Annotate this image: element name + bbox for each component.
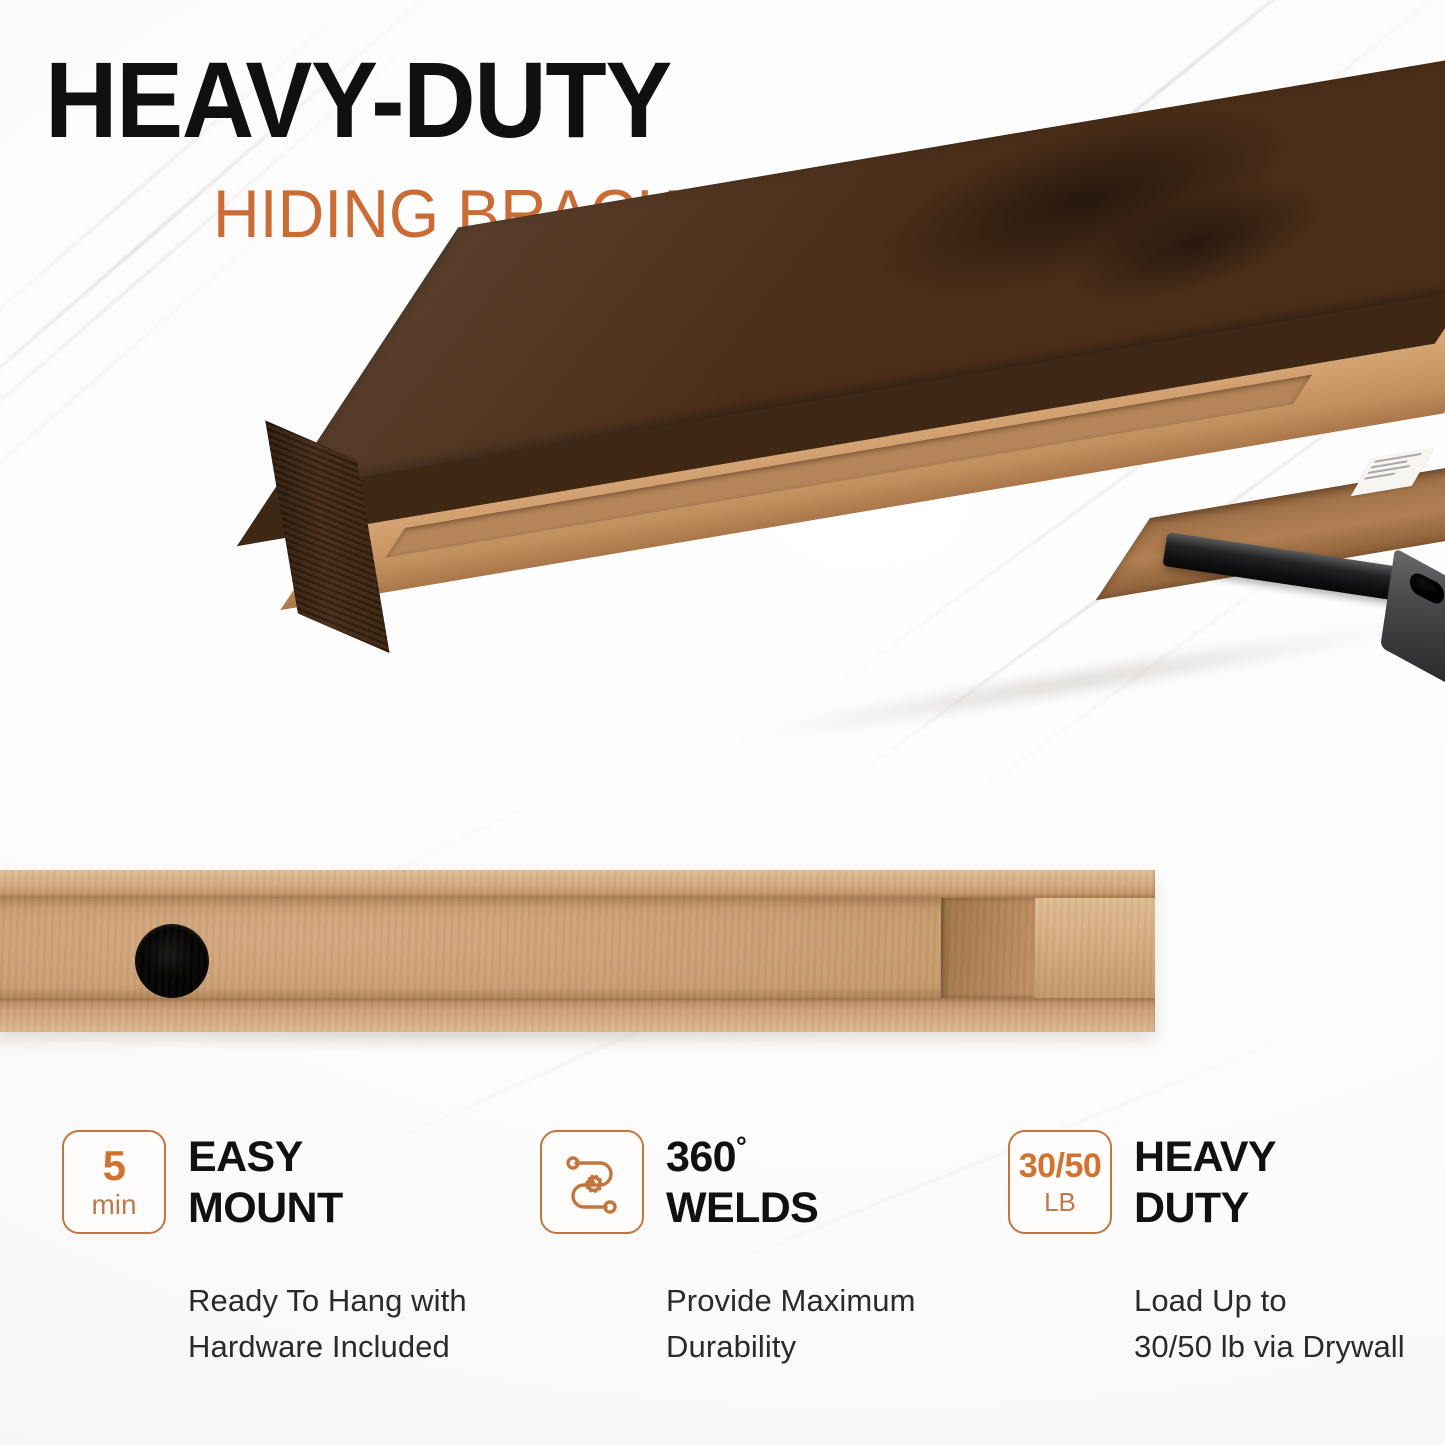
feature-description: Load Up to 30/50 lb via Drywall — [1134, 1278, 1445, 1370]
feature-title: 360° WELDS — [666, 1130, 818, 1234]
feature-easy-mount: 5 min EASY MOUNT Ready To Hang with Hard… — [62, 1130, 502, 1370]
feature-title: EASY MOUNT — [188, 1130, 343, 1234]
weight-capacity-badge-icon: 30/50 LB — [1008, 1130, 1112, 1234]
cross-section-top-wall — [0, 870, 1155, 898]
cross-section-mounting-hole — [135, 924, 209, 998]
badge-value: 5 — [103, 1145, 126, 1187]
feature-title-rest: WELDS — [666, 1184, 818, 1232]
feature-360-welds: 360° WELDS Provide Maximum Durability — [540, 1130, 980, 1370]
page-title: HEAVY-DUTY — [45, 44, 671, 156]
feature-title-number: 360 — [666, 1133, 736, 1181]
hero-image-angled-shelf — [0, 250, 1445, 780]
feature-list: 5 min EASY MOUNT Ready To Hang with Hard… — [0, 1130, 1445, 1430]
feature-heavy-duty: 30/50 LB HEAVY DUTY Load Up to 30/50 lb … — [1008, 1130, 1445, 1370]
hero-image-cross-section — [0, 870, 1445, 1045]
feature-heading-row: 30/50 LB HEAVY DUTY — [1008, 1130, 1445, 1234]
badge-value: 30/50 — [1019, 1148, 1102, 1184]
shelf-assembly — [285, 260, 1445, 760]
product-infographic: HEAVY-DUTY HIDING BRACKET/ACCESSORY — [0, 0, 1445, 1445]
feature-title: HEAVY DUTY — [1134, 1130, 1276, 1234]
cross-section-bottom-wall — [0, 998, 1155, 1032]
feature-description: Ready To Hang with Hardware Included — [188, 1278, 502, 1370]
shelf-drop-shadow — [589, 586, 1445, 778]
weld-path-gear-icon — [540, 1130, 644, 1234]
feature-heading-row: 360° WELDS — [540, 1130, 980, 1234]
badge-unit: min — [91, 1190, 136, 1220]
feature-description: Provide Maximum Durability — [666, 1278, 980, 1370]
minutes-badge-icon: 5 min — [62, 1130, 166, 1234]
cross-section-back-wall — [941, 898, 1037, 998]
badge-unit: LB — [1044, 1187, 1076, 1217]
feature-heading-row: 5 min EASY MOUNT — [62, 1130, 502, 1234]
cross-section-shadow — [0, 1028, 1160, 1058]
degree-symbol: ° — [736, 1132, 746, 1162]
shelf-cross-section — [0, 870, 1155, 1032]
